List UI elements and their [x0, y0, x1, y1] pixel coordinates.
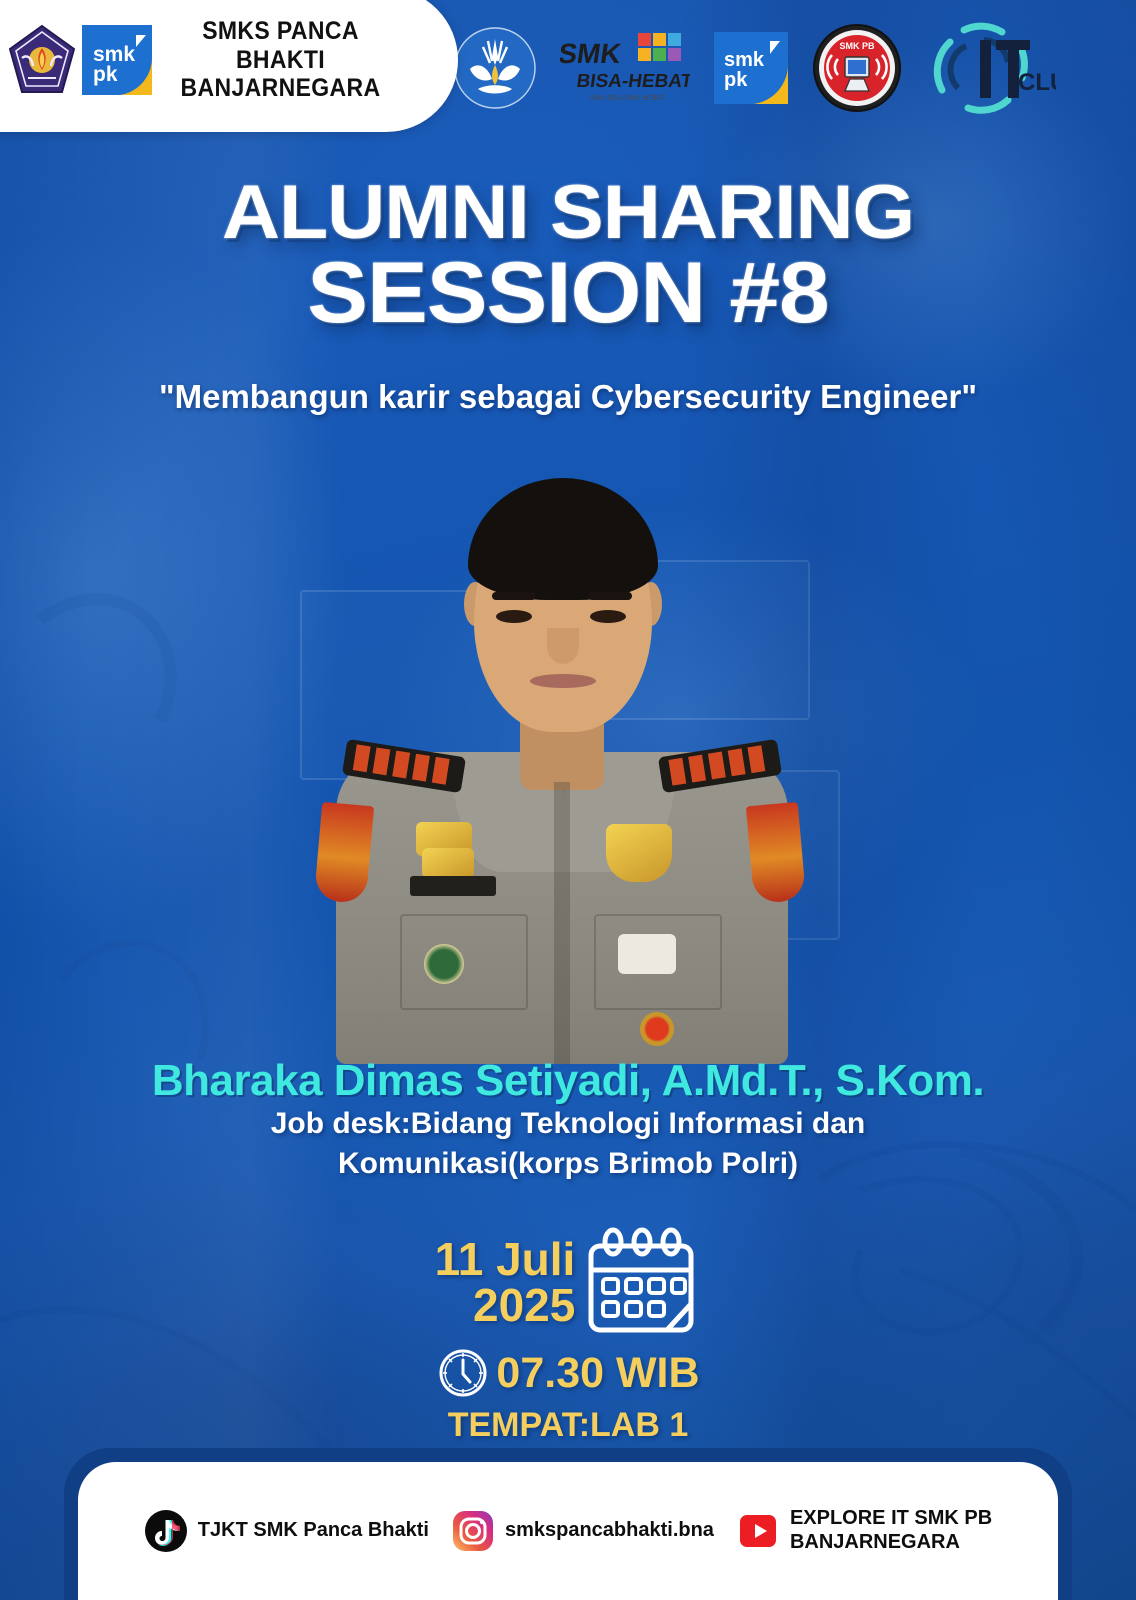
event-subtitle: "Membangun karir sebagai Cybersecurity E…	[0, 378, 1136, 416]
school-name-line1: SMKS PANCA BHAKTI	[177, 17, 384, 74]
mouth	[530, 674, 596, 688]
poster-root: smk pk SMKS PANCA BHAKTI BANJARNEGARA SM…	[0, 0, 1136, 1600]
school-name: SMKS PANCA BHAKTI BANJARNEGARA	[177, 17, 384, 103]
smk-pk-logo-2: smk pk	[712, 28, 790, 108]
event-date-row: 11 Juli 2025	[0, 1226, 1136, 1338]
eyebrow-left	[492, 592, 536, 600]
instagram-handle: smkspancabhakti.bna	[505, 1519, 714, 1543]
nose	[547, 628, 579, 664]
youtube-handle: EXPLORE IT SMK PB BANJARNEGARA	[790, 1507, 992, 1554]
footer-social-bar: TJKT SMK Panca Bhakti smkspancabhakti.bn…	[78, 1462, 1058, 1600]
uniform-placket	[554, 782, 570, 1064]
calendar-icon	[583, 1226, 701, 1338]
uniform-pin-white	[618, 934, 676, 974]
svg-text:SMK PB: SMK PB	[839, 41, 875, 51]
tiktok-icon	[144, 1509, 188, 1553]
event-time-row: 07.30 WIB	[0, 1346, 1136, 1400]
event-date-line-2: 2025	[435, 1282, 576, 1328]
uniform-pin-red	[640, 1012, 674, 1046]
svg-text:SMK: SMK	[560, 38, 624, 69]
shoulder-patch-right	[746, 802, 806, 904]
event-date-line-1: 11 Juli	[435, 1233, 576, 1285]
header-school-badge: smk pk SMKS PANCA BHAKTI BANJARNEGARA	[0, 0, 458, 132]
speaker-name: Bharaka Dimas Setiyadi, A.Md.T., S.Kom.	[0, 1056, 1136, 1106]
svg-text:pk: pk	[724, 69, 748, 91]
speaker-photo	[288, 452, 832, 1062]
header-partner-logos: SMK BISA-HEBAT SMK BISA SMK HEBAT smk pk	[452, 8, 1128, 128]
smk-pk-logo: smk pk	[80, 21, 154, 99]
speaker-job-description: Job desk:Bidang Teknologi Informasi dan …	[0, 1104, 1136, 1184]
tut-wuri-handayani-logo	[452, 25, 538, 111]
title-line-1: ALUMNI SHARING	[0, 178, 1136, 249]
event-time: 07.30 WIB	[496, 1349, 699, 1398]
hair	[468, 478, 658, 600]
event-place: TEMPAT:LAB 1	[0, 1406, 1136, 1445]
chest-badge-gold-left-2	[422, 848, 474, 878]
tiktok-handle: TJKT SMK Panca Bhakti	[198, 1519, 429, 1543]
eyebrow-right	[588, 592, 632, 600]
uniform-pin-green	[424, 944, 464, 984]
school-name-line2: BANJARNEGARA	[177, 74, 384, 103]
social-youtube[interactable]: EXPLORE IT SMK PB BANJARNEGARA	[736, 1507, 992, 1554]
school-crest-logo	[8, 24, 76, 96]
social-tiktok[interactable]: TJKT SMK Panca Bhakti	[144, 1509, 429, 1553]
event-details: 11 Juli 2025	[0, 1226, 1136, 1445]
svg-text:SMK BISA SMK HEBAT: SMK BISA SMK HEBAT	[590, 95, 665, 102]
smk-pb-radio-logo: SMK PB	[812, 23, 902, 113]
instagram-icon	[451, 1509, 495, 1553]
uniform-pocket-left	[400, 914, 528, 1010]
social-instagram[interactable]: smkspancabhakti.bna	[451, 1509, 714, 1553]
svg-text:BISA-HEBAT: BISA-HEBAT	[575, 71, 690, 92]
speaker-job-line-2: Komunikasi(korps Brimob Polri)	[0, 1144, 1136, 1184]
eye-left	[496, 610, 532, 623]
svg-text:pk: pk	[93, 63, 118, 86]
it-club-logo: CLUB	[924, 16, 1056, 120]
name-tag	[410, 876, 496, 896]
clock-icon	[436, 1346, 490, 1400]
event-title: ALUMNI SHARING SESSION #8	[0, 178, 1136, 334]
title-line-2: SESSION #8	[0, 253, 1136, 335]
svg-text:CLUB: CLUB	[1018, 69, 1056, 96]
chest-badge-gold-right	[606, 824, 672, 882]
speaker-job-line-1: Job desk:Bidang Teknologi Informasi dan	[0, 1104, 1136, 1144]
smk-bisa-hebat-logo: SMK BISA-HEBAT SMK BISA SMK HEBAT	[560, 29, 690, 107]
event-date: 11 Juli 2025	[435, 1236, 576, 1328]
youtube-icon	[736, 1509, 780, 1553]
eye-right	[590, 610, 626, 623]
svg-text:smk: smk	[724, 49, 765, 71]
